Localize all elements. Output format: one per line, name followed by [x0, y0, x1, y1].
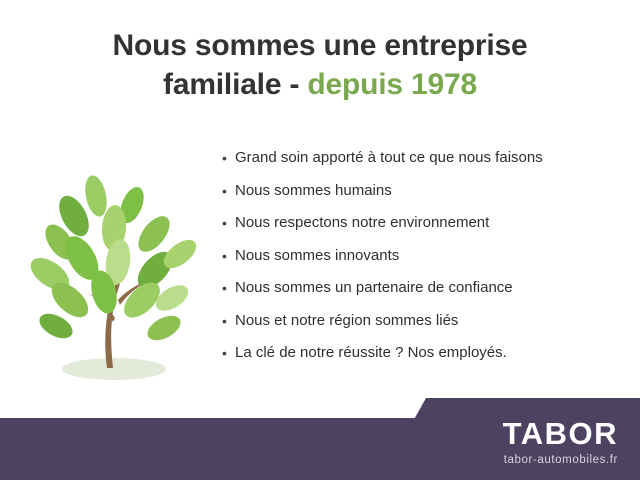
list-item: • Grand soin apporté à tout ce que nous …	[222, 148, 622, 168]
bullet-icon: •	[222, 278, 235, 298]
title-line-2-prefix: familiale -	[163, 68, 299, 101]
footer-bar-left	[0, 418, 470, 480]
list-item-label: Nous sommes un partenaire de confiance	[235, 278, 513, 298]
list-item: • Nous sommes humains	[222, 181, 622, 201]
title-line-2: familiale - depuis 1978	[0, 65, 640, 104]
bullet-icon: •	[222, 311, 235, 331]
page-title: Nous sommes une entreprise familiale - d…	[0, 26, 640, 104]
bullet-icon: •	[222, 181, 235, 201]
slide-root: Nous sommes une entreprise familiale - d…	[0, 0, 640, 480]
list-item: • Nous sommes un partenaire de confiance	[222, 278, 622, 298]
bullet-icon: •	[222, 213, 235, 233]
list-item-label: Grand soin apporté à tout ce que nous fa…	[235, 148, 543, 168]
brand-logo: TABOR	[503, 418, 618, 450]
title-line-1: Nous sommes une entreprise	[0, 26, 640, 65]
brand-url: tabor-automobiles.fr	[504, 454, 618, 466]
brand-name: TABOR	[503, 418, 618, 450]
list-item: • Nous respectons notre environnement	[222, 213, 622, 233]
tree-svg	[14, 150, 214, 390]
list-item: • Nous et notre région sommes liés	[222, 311, 622, 331]
bullet-list: • Grand soin apporté à tout ce que nous …	[222, 148, 622, 376]
list-item: • Nous sommes innovants	[222, 246, 622, 266]
bullet-icon: •	[222, 246, 235, 266]
list-item-label: Nous respectons notre environnement	[235, 213, 489, 233]
bullet-icon: •	[222, 148, 235, 168]
list-item-label: Nous sommes humains	[235, 181, 392, 201]
tree-illustration	[14, 150, 214, 390]
bullet-icon: •	[222, 343, 235, 363]
tree-shadow	[62, 358, 166, 380]
list-item-label: La clé de notre réussite ? Nos employés.	[235, 343, 507, 363]
list-item: • La clé de notre réussite ? Nos employé…	[222, 343, 622, 363]
list-item-label: Nous sommes innovants	[235, 246, 399, 266]
title-accent-year: depuis 1978	[307, 68, 477, 101]
list-item-label: Nous et notre région sommes liés	[235, 311, 458, 331]
